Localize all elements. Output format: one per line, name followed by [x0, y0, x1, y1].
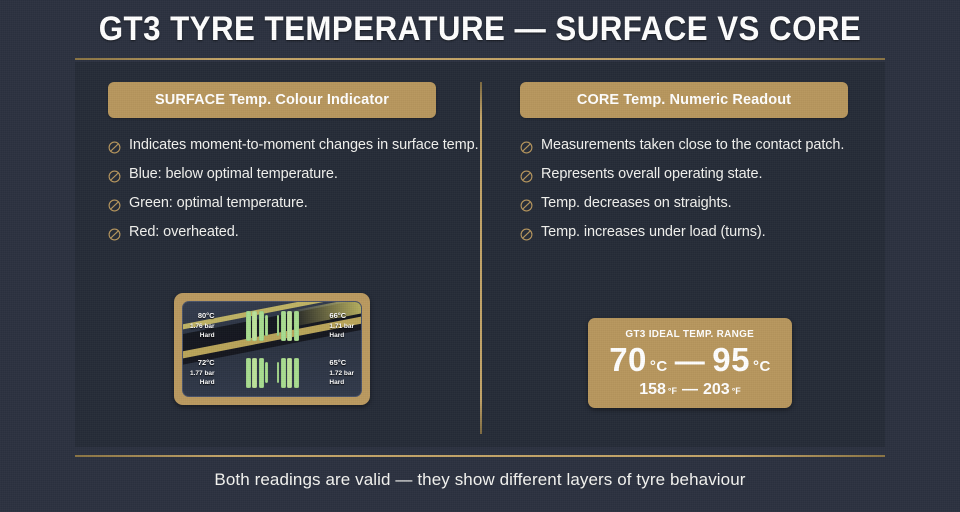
tyre-segment	[281, 358, 286, 388]
tyre-graphic-rear-right	[277, 358, 299, 388]
rear-wheel-graphics	[246, 358, 299, 388]
prohibition-icon	[520, 199, 533, 212]
tyre-segment	[277, 315, 280, 337]
tyre-graphic-front-left	[246, 311, 268, 341]
axle-front: 80°C 1.76 bar Hard	[183, 302, 361, 349]
tyre-segment	[294, 358, 299, 388]
range-celsius-max: 95	[712, 343, 750, 376]
range-celsius-unit-max: °C	[753, 359, 771, 374]
tyre-segment	[246, 358, 251, 388]
tyre-segment	[281, 311, 286, 341]
tyre-temp-value: 66°C	[329, 311, 354, 322]
tyre-temperature-hud-figure: 80°C 1.76 bar Hard	[174, 293, 370, 405]
footer-caption: Both readings are valid — they show diff…	[0, 470, 960, 490]
list-item-label: Temp. increases under load (turns).	[541, 225, 766, 241]
surface-heading-label: SURFACE Temp. Colour Indicator	[155, 92, 389, 108]
prohibition-icon	[108, 170, 121, 183]
tyre-readout-rear-left: 72°C 1.77 bar Hard	[190, 358, 215, 388]
list-item: Blue: below optimal temperature.	[108, 167, 438, 183]
tyre-compound-value: Hard	[190, 331, 215, 340]
list-item: Measurements taken close to the contact …	[520, 138, 850, 154]
page-title: GT3 TYRE TEMPERATURE — SURFACE VS CORE	[38, 10, 921, 49]
list-item: Red: overheated.	[108, 225, 438, 241]
range-celsius-min: 70	[609, 343, 647, 376]
surface-bullet-list: Indicates moment-to-moment changes in su…	[108, 138, 438, 241]
tyre-segment	[259, 311, 264, 341]
ideal-temp-range-card: GT3 IDEAL TEMP. RANGE 70 °C — 95 °C 158 …	[588, 318, 792, 408]
tyre-pressure-value: 1.76 bar	[190, 322, 215, 331]
core-heading-pill: CORE Temp. Numeric Readout	[520, 82, 848, 118]
column-core: CORE Temp. Numeric Readout Measurements …	[520, 82, 850, 254]
list-item-label: Represents overall operating state.	[541, 167, 762, 183]
tyre-segment	[277, 362, 280, 384]
range-card-label: GT3 IDEAL TEMP. RANGE	[626, 328, 755, 340]
title-block: GT3 TYRE TEMPERATURE — SURFACE VS CORE	[0, 10, 960, 49]
list-item-label: Temp. decreases on straights.	[541, 196, 732, 212]
tyre-readout-front-left: 80°C 1.76 bar Hard	[190, 311, 215, 341]
prohibition-icon	[108, 141, 121, 154]
tyre-segment	[287, 311, 292, 341]
tyre-compound-value: Hard	[329, 378, 354, 387]
column-surface: SURFACE Temp. Colour Indicator Indicates…	[108, 82, 438, 254]
tyre-pressure-value: 1.77 bar	[190, 369, 215, 378]
tyre-readout-front-right: 66°C 1.71 bar Hard	[329, 311, 354, 341]
prohibition-icon	[520, 141, 533, 154]
tyre-graphic-front-right	[277, 311, 299, 341]
list-item: Temp. increases under load (turns).	[520, 225, 850, 241]
footer-divider-rule	[75, 455, 885, 457]
tyre-temp-value: 72°C	[190, 358, 215, 369]
list-item-label: Measurements taken close to the contact …	[541, 138, 844, 154]
list-item-label: Green: optimal temperature.	[129, 196, 308, 212]
tyre-pressure-value: 1.72 bar	[329, 369, 354, 378]
tyre-temp-value: 65°C	[329, 358, 354, 369]
range-fahrenheit-unit-min: °F	[668, 387, 677, 396]
prohibition-icon	[108, 228, 121, 241]
range-fahrenheit-max: 203	[703, 382, 730, 398]
tyre-compound-value: Hard	[190, 378, 215, 387]
range-fahrenheit: 158 °F — 203 °F	[639, 382, 741, 398]
front-wheel-graphics	[246, 311, 299, 341]
surface-heading-pill: SURFACE Temp. Colour Indicator	[108, 82, 436, 118]
range-fahrenheit-unit-max: °F	[732, 387, 741, 396]
range-celsius: 70 °C — 95 °C	[609, 343, 771, 377]
title-divider-rule	[75, 58, 885, 60]
list-item-label: Red: overheated.	[129, 225, 239, 241]
list-item: Indicates moment-to-moment changes in su…	[108, 138, 438, 154]
tyre-temp-value: 80°C	[190, 311, 215, 322]
slide-root: GT3 TYRE TEMPERATURE — SURFACE VS CORE S…	[0, 0, 960, 512]
prohibition-icon	[520, 170, 533, 183]
list-item: Represents overall operating state.	[520, 167, 850, 183]
tyre-graphic-rear-left	[246, 358, 268, 388]
tyre-segment	[252, 358, 257, 388]
tyre-segment	[252, 311, 257, 341]
tyre-segment	[259, 358, 264, 388]
column-divider	[480, 82, 482, 434]
list-item-label: Indicates moment-to-moment changes in su…	[129, 138, 479, 154]
range-fahrenheit-min: 158	[639, 382, 666, 398]
axle-rear: 72°C 1.77 bar Hard	[183, 349, 361, 396]
range-celsius-dash: —	[671, 347, 710, 377]
tyre-segment	[246, 311, 251, 341]
tyre-segment	[287, 358, 292, 388]
tyre-compound-value: Hard	[329, 331, 354, 340]
list-item-label: Blue: below optimal temperature.	[129, 167, 338, 183]
core-bullet-list: Measurements taken close to the contact …	[520, 138, 850, 241]
tyre-readout-rear-right: 65°C 1.72 bar Hard	[329, 358, 354, 388]
hud-screen: 80°C 1.76 bar Hard	[182, 301, 362, 397]
tyre-segment	[265, 315, 268, 337]
list-item: Temp. decreases on straights.	[520, 196, 850, 212]
prohibition-icon	[108, 199, 121, 212]
list-item: Green: optimal temperature.	[108, 196, 438, 212]
range-fahrenheit-dash: —	[679, 382, 701, 398]
range-celsius-unit-min: °C	[650, 359, 668, 374]
tyre-segment	[265, 362, 268, 384]
core-heading-label: CORE Temp. Numeric Readout	[577, 92, 791, 108]
tyre-pressure-value: 1.71 bar	[329, 322, 354, 331]
tyre-segment	[294, 311, 299, 341]
prohibition-icon	[520, 228, 533, 241]
